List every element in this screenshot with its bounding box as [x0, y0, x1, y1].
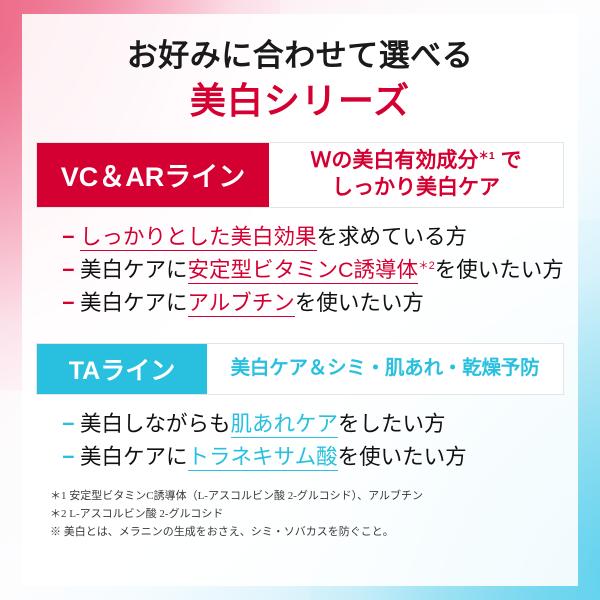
- bullet-text-post: を使いたい方: [295, 291, 424, 315]
- series-desc-vc-ar-line2: しっかり美白ケア: [332, 176, 500, 199]
- series-desc-vc-ar: Ｗの美白有効成分＊1 で しっかり美白ケア: [269, 143, 563, 207]
- footnote-block: ＊1 安定型ビタミンC誘導体（L-アスコルビン酸 2-グルコシド）、アルブチン …: [36, 478, 564, 541]
- list-item: − 美白ケアにトラネキサム酸を使いたい方: [62, 441, 564, 474]
- footnote-line: ※ 美白とは、メラニンの生成をおさえ、シミ・ソバカスを防ぐこと。: [50, 524, 564, 542]
- bullet-text-post: をしたい方: [338, 412, 446, 436]
- bullet-dash: −: [62, 287, 80, 320]
- bullet-highlight: 安定型ビタミンC誘導体: [188, 258, 419, 284]
- bullet-text-pre: 美白ケアに: [80, 258, 188, 282]
- bullet-dash: −: [62, 254, 80, 287]
- series-header-vc-ar: VC＆ARライン Ｗの美白有効成分＊1 で しっかり美白ケア: [36, 142, 564, 208]
- title-main: 美白シリーズ: [22, 79, 578, 122]
- list-item: − 美白ケアにアルブチンを使いたい方: [62, 287, 564, 320]
- series-desc-vc-ar-line1-tail: で: [495, 149, 522, 172]
- bullet-text-post: を求めている方: [317, 225, 468, 249]
- bullet-highlight: トラネキサム酸: [188, 445, 338, 471]
- promo-poster: お好みに合わせて選べる 美白シリーズ VC＆ARライン Ｗの美白有効成分＊1 で…: [0, 0, 600, 600]
- footnote-marker-1: ＊1: [478, 150, 494, 162]
- bullet-text-post: を使いたい方: [338, 445, 467, 469]
- title-block: お好みに合わせて選べる 美白シリーズ: [22, 14, 578, 122]
- bullet-dash: −: [62, 408, 80, 441]
- bullet-highlight: 肌あれケア: [231, 412, 339, 438]
- bullet-dash: −: [62, 441, 80, 474]
- list-item: − 美白しながらも肌あれケアをしたい方: [62, 408, 564, 441]
- bullet-highlight: しっかりとした美白効果: [80, 225, 317, 251]
- series-header-ta: TAライン 美白ケア＆シミ・肌あれ・乾燥予防: [36, 343, 564, 395]
- content-card: お好みに合わせて選べる 美白シリーズ VC＆ARライン Ｗの美白有効成分＊1 で…: [22, 14, 578, 586]
- bullet-dash: −: [62, 221, 80, 254]
- footnote-line: ＊2 L-アスコルビン酸 2-グルコシド: [50, 506, 564, 524]
- bullet-list-ta: − 美白しながらも肌あれケアをしたい方 − 美白ケアにトラネキサム酸を使いたい方: [36, 395, 564, 479]
- footnote-marker-2: ＊2: [418, 260, 435, 272]
- bullet-list-vc-ar: − しっかりとした美白効果を求めている方 − 美白ケアに安定型ビタミンC誘導体＊…: [36, 208, 564, 325]
- bullet-text-post: を使いたい方: [435, 258, 564, 282]
- series-tag-ta: TAライン: [37, 344, 207, 394]
- bullet-text-pre: 美白ケアに: [80, 291, 188, 315]
- list-item: − 美白ケアに安定型ビタミンC誘導体＊2を使いたい方: [62, 254, 564, 287]
- list-item: − しっかりとした美白効果を求めている方: [62, 221, 564, 254]
- bullet-text-pre: 美白ケアに: [80, 445, 188, 469]
- series-desc-ta: 美白ケア＆シミ・肌あれ・乾燥予防: [207, 344, 563, 394]
- bullet-text-pre: 美白しながらも: [80, 412, 231, 436]
- series-desc-vc-ar-line1: Ｗの美白有効成分: [310, 149, 478, 172]
- footnote-line: ＊1 安定型ビタミンC誘導体（L-アスコルビン酸 2-グルコシド）、アルブチン: [50, 488, 564, 506]
- bullet-highlight: アルブチン: [188, 291, 295, 317]
- series-tag-vc-ar: VC＆ARライン: [37, 143, 269, 207]
- title-subline: お好みに合わせて選べる: [22, 38, 578, 75]
